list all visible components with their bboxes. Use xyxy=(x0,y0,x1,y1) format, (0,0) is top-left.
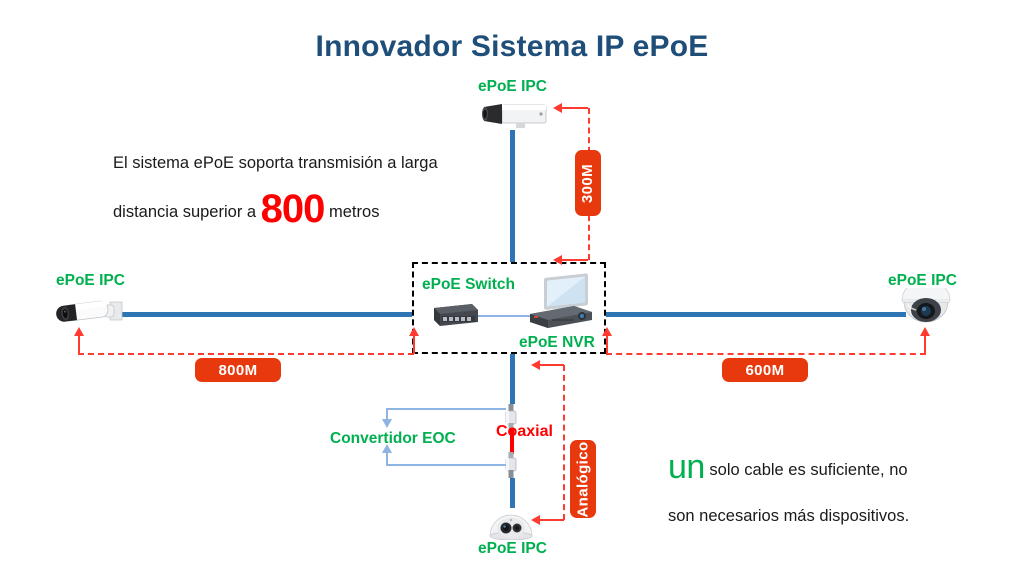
nvr-label: ePoE NVR xyxy=(519,334,595,352)
bottom-camera-label: ePoE IPC xyxy=(478,540,547,558)
badge-analogico: Analógico xyxy=(570,440,596,518)
network-switch-icon xyxy=(428,298,480,334)
converter-label: Convertidor EOC xyxy=(330,430,456,448)
bullet-camera-icon xyxy=(52,294,128,330)
right-description-line1: un solo cable es suficiente, no xyxy=(668,444,909,493)
cable-bottom-vertical-upper xyxy=(510,354,515,404)
converter-leader-top-horizontal xyxy=(386,408,506,410)
box-camera-icon xyxy=(480,98,552,132)
measure-analogico-bottom-arrow xyxy=(531,515,540,525)
converter-leader-bottom-horizontal xyxy=(386,464,506,466)
right-description-line1-suffix: solo cable es suficiente, no xyxy=(709,461,907,479)
left-description-text: El sistema ePoE soporta transmisión a la… xyxy=(113,140,438,235)
badge-600m-text: 600M xyxy=(745,362,784,379)
measure-300m-bottom-stem xyxy=(562,259,588,261)
measure-800m-left-stem xyxy=(78,335,80,354)
badge-600m: 600M xyxy=(722,358,808,382)
turret-camera-icon xyxy=(486,506,536,540)
measure-800m-left-arrow xyxy=(74,327,84,336)
measure-analogico-top-stem xyxy=(540,364,564,366)
left-description-line2: distancia superior a 800 metros xyxy=(113,186,438,235)
measure-800m-right-stem xyxy=(413,335,415,354)
cable-bottom-vertical-lower xyxy=(510,478,515,508)
diagram-canvas: Innovador Sistema IP ePoE El sistema ePo… xyxy=(0,0,1024,575)
left-description-line1: El sistema ePoE soporta transmisión a la… xyxy=(113,140,438,186)
measure-600m-left-arrow xyxy=(602,327,612,336)
coaxial-label: Coaxial xyxy=(496,423,553,441)
top-camera-label: ePoE IPC xyxy=(478,78,547,96)
right-description-line2: son necesarios más dispositivos. xyxy=(668,493,909,539)
nvr-monitor-icon xyxy=(524,272,596,332)
cable-left-horizontal xyxy=(118,312,412,317)
badge-800m-text: 800M xyxy=(218,362,257,379)
badge-analogico-text: Analógico xyxy=(575,441,592,517)
measure-600m-horizontal xyxy=(606,353,926,355)
measure-600m-right-stem xyxy=(924,335,926,354)
cable-top-vertical xyxy=(510,130,515,262)
measure-800m-right-arrow xyxy=(409,327,419,336)
cable-right-horizontal xyxy=(606,312,906,317)
left-description-line2-suffix: metros xyxy=(329,203,379,221)
measure-300m-bottom-arrow xyxy=(553,255,562,265)
switch-label: ePoE Switch xyxy=(422,276,515,294)
dome-camera-icon xyxy=(896,288,956,332)
single-cable-highlight: un xyxy=(668,448,705,486)
badge-300m: 300M xyxy=(575,150,601,216)
measure-600m-right-arrow xyxy=(920,327,930,336)
page-title: Innovador Sistema IP ePoE xyxy=(0,30,1024,64)
measure-300m-top-arrow xyxy=(553,103,562,113)
right-description-text: un solo cable es suficiente, no son nece… xyxy=(668,444,909,539)
measure-analogico-vertical xyxy=(563,365,565,520)
measure-600m-left-stem xyxy=(606,335,608,354)
badge-800m: 800M xyxy=(195,358,281,382)
left-description-line2-prefix: distancia superior a xyxy=(113,203,256,221)
converter-leader-top-arrow xyxy=(382,419,392,428)
measure-analogico-bottom-stem xyxy=(540,519,564,521)
converter-leader-bottom-vertical xyxy=(386,452,388,464)
converter-leader-bottom-arrow xyxy=(382,444,392,453)
left-camera-label: ePoE IPC xyxy=(56,272,125,290)
measure-300m-top-stem xyxy=(562,107,588,109)
badge-300m-text: 300M xyxy=(580,163,597,202)
distance-highlight-800: 800 xyxy=(261,187,325,231)
measure-analogico-top-arrow xyxy=(531,360,540,370)
measure-800m-horizontal xyxy=(78,353,414,355)
